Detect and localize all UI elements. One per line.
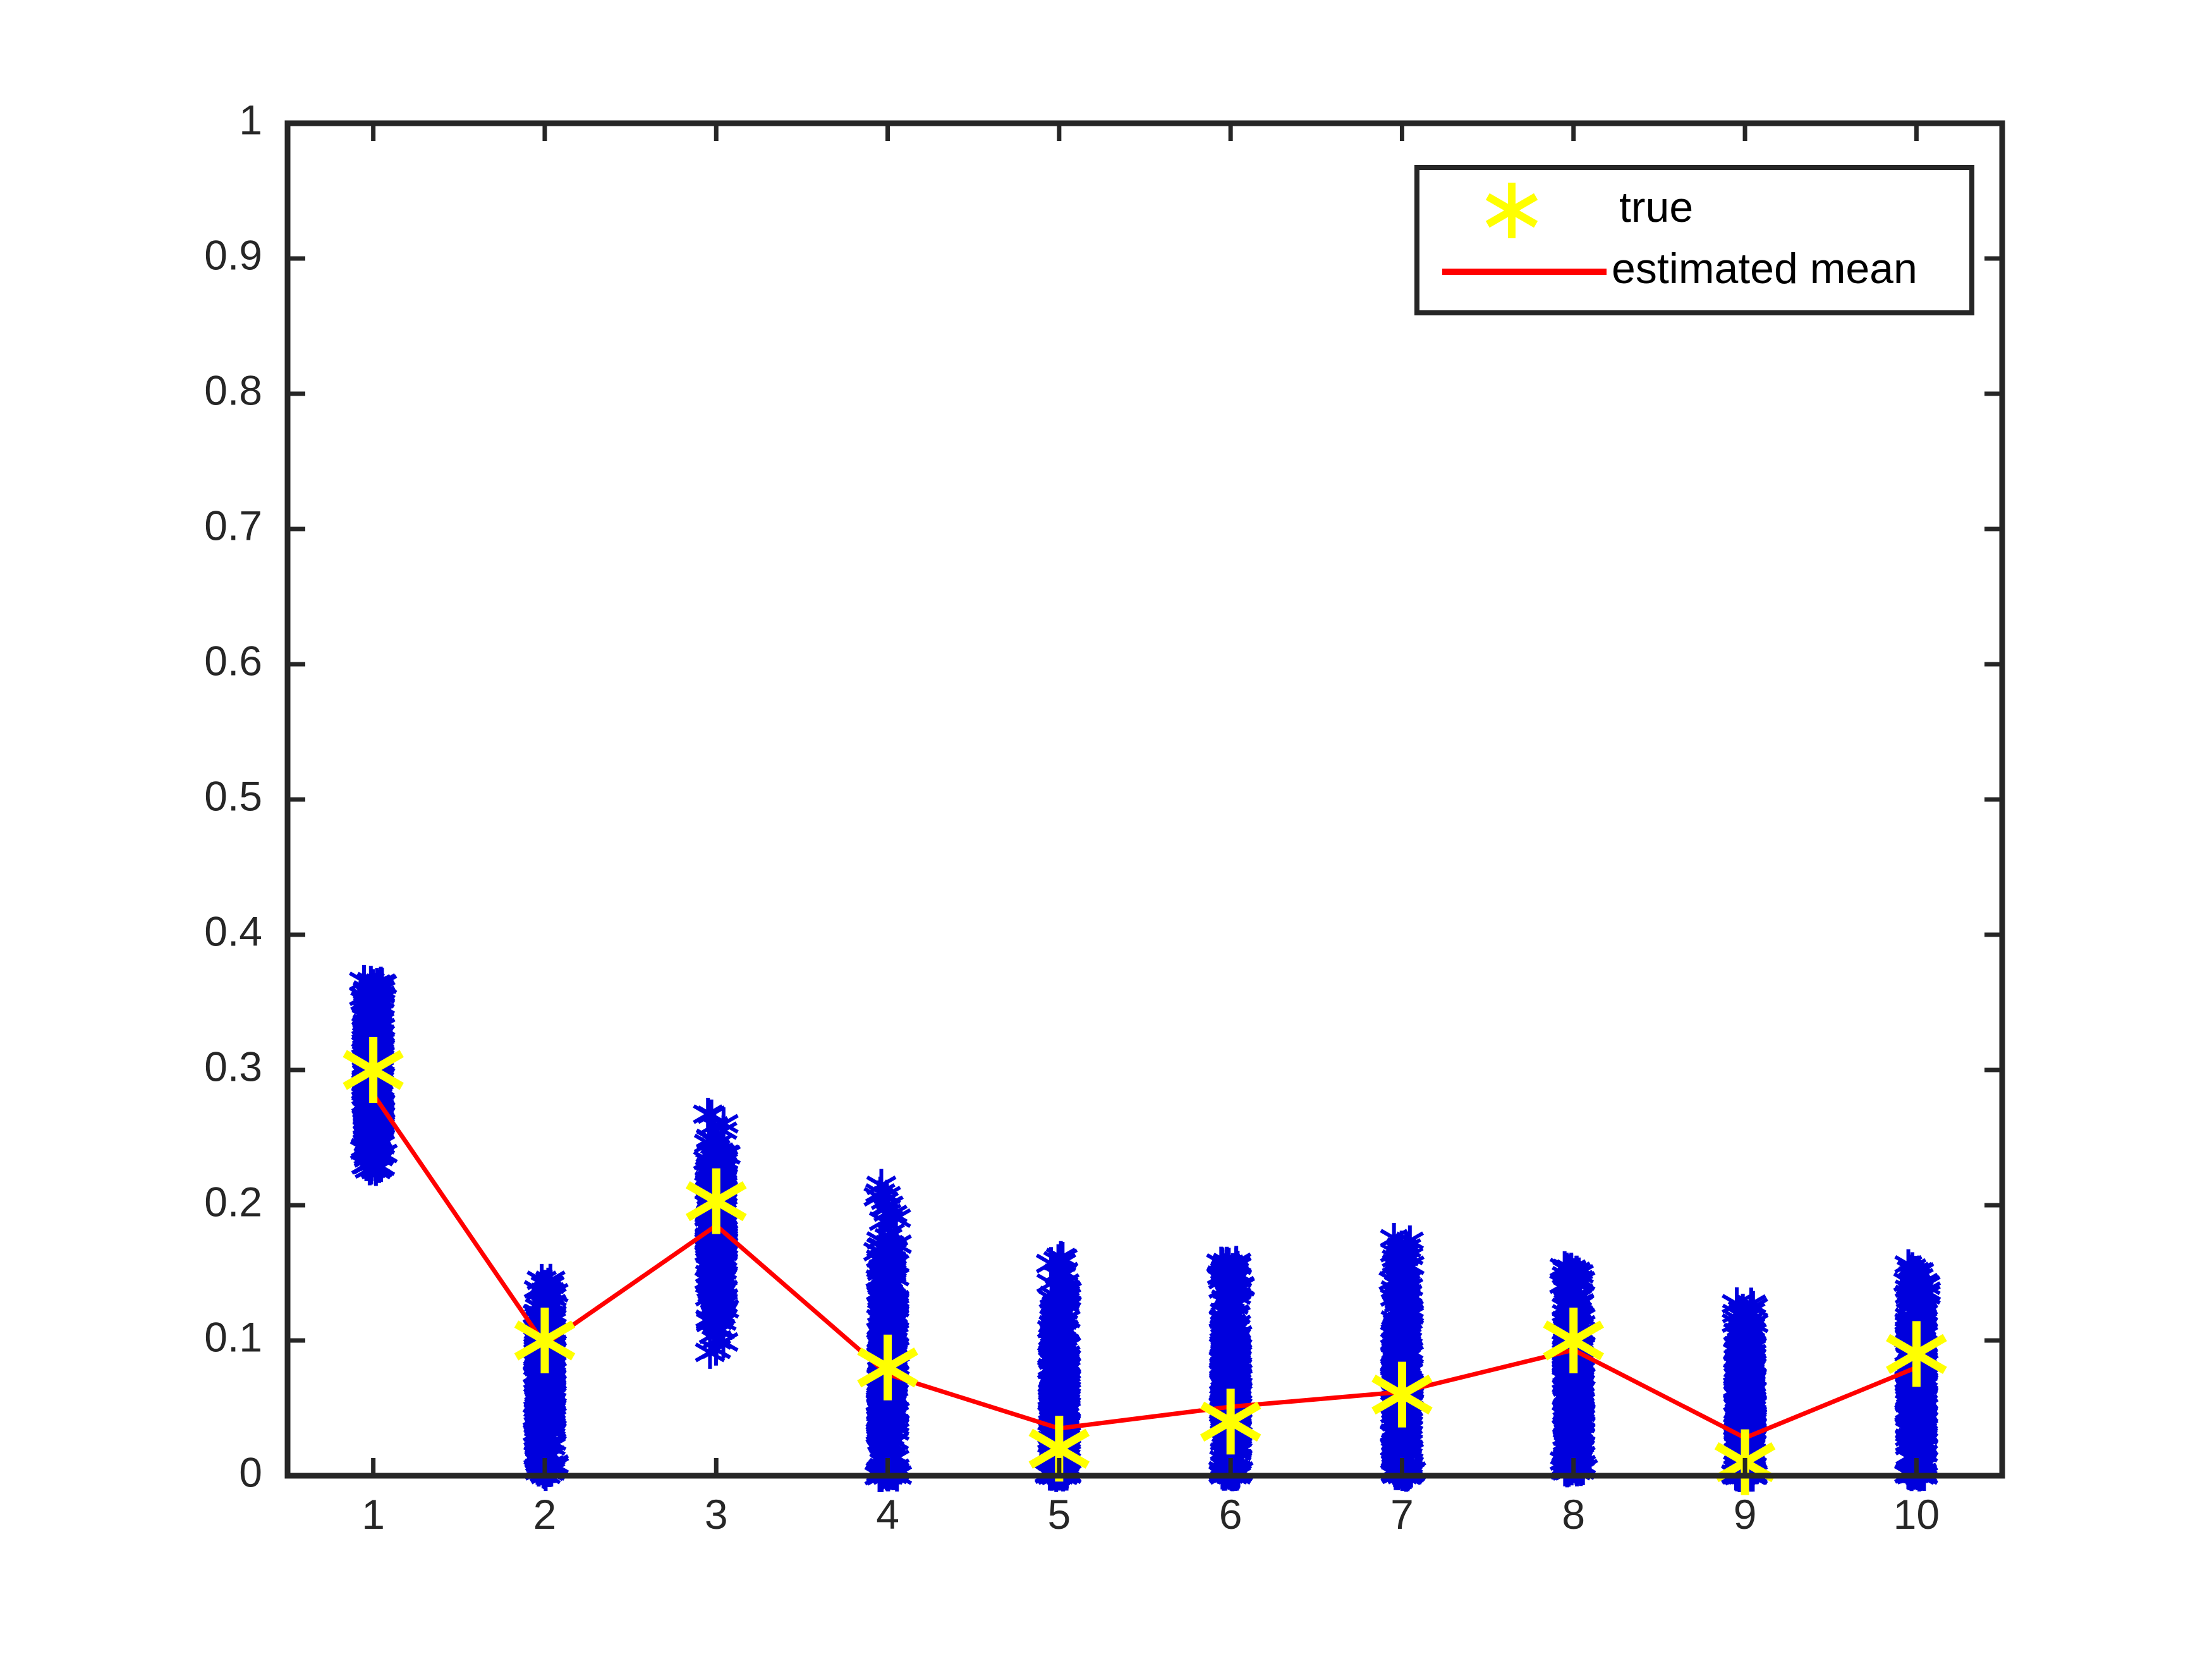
y-axis-tick-label: 0.2 xyxy=(204,1178,262,1225)
x-axis-tick-label: 3 xyxy=(705,1491,728,1538)
y-axis-tick-label: 0.5 xyxy=(204,772,262,819)
y-axis-tick-label: 0.9 xyxy=(204,231,262,278)
y-axis-tick-label: 0.3 xyxy=(204,1043,262,1090)
scatter-plot: 00.10.20.30.40.50.60.70.80.9112345678910… xyxy=(0,0,2212,1659)
y-axis-tick-label: 0 xyxy=(239,1449,262,1495)
figure-canvas: 00.10.20.30.40.50.60.70.80.9112345678910… xyxy=(0,0,2212,1659)
y-axis-tick-label: 0.1 xyxy=(204,1313,262,1360)
y-axis-tick-label: 0.7 xyxy=(204,502,262,549)
y-axis-tick-label: 0.6 xyxy=(204,637,262,684)
x-axis-tick-label: 4 xyxy=(876,1491,899,1538)
legend-label-true: true xyxy=(1619,183,1693,231)
x-axis-tick-label: 10 xyxy=(1893,1491,1940,1538)
y-axis-tick-label: 1 xyxy=(239,96,262,143)
x-axis-tick-label: 9 xyxy=(1734,1491,1757,1538)
legend-label-estimated-mean: estimated mean xyxy=(1612,245,1917,293)
x-axis-tick-label: 5 xyxy=(1047,1491,1071,1538)
x-axis-tick-label: 7 xyxy=(1390,1491,1414,1538)
y-axis-tick-label: 0.8 xyxy=(204,367,262,413)
chart-legend: trueestimated mean xyxy=(1417,167,1972,313)
x-axis-tick-label: 1 xyxy=(362,1491,385,1538)
x-axis-tick-label: 6 xyxy=(1219,1491,1243,1538)
y-axis-tick-label: 0.4 xyxy=(204,908,262,954)
x-axis-tick-label: 8 xyxy=(1562,1491,1585,1538)
x-axis-tick-label: 2 xyxy=(533,1491,557,1538)
